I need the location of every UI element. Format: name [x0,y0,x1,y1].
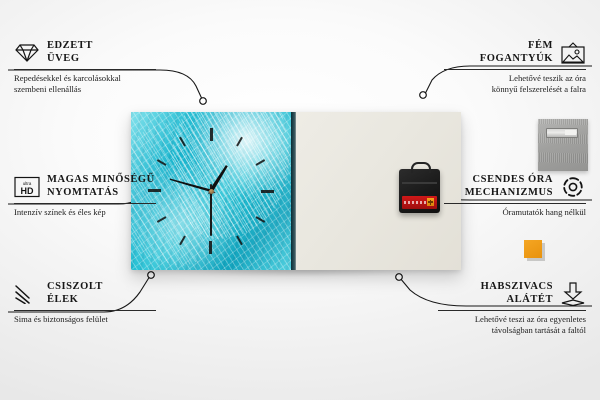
callout-title-line2: MECHANIZMUS [465,187,553,200]
gear-icon [560,175,586,199]
callout-rule [444,69,586,70]
callout-title-line1: MAGAS MINŐSÉGŰ [47,174,155,187]
callout-title-line2: ÜVEG [47,53,93,66]
callout-title-line2: FOGANTYÚK [480,53,553,66]
callout-title-line2: ÉLEK [47,294,103,307]
connector-dot-metal-handles [420,92,427,99]
infographic-canvas: EDZETT ÜVEG Repedésekkel és karcolásokka… [0,0,600,400]
callout-desc-line2: távolságban tartását a faltól [438,325,586,336]
callout-desc-line1: Lehetővé teszi az óra egyenletes [438,314,586,325]
quartz-mechanism [399,169,440,213]
foam-spacer-pad [524,240,542,258]
callout-rule [14,69,156,70]
callout-rule [14,203,156,204]
wall-hanger-icon [560,42,586,64]
callout-title-line1: FÉM [480,40,553,53]
connector-dot-tempered-glass [200,98,207,105]
callout-title-line1: CSENDES ÓRA [465,174,553,187]
callout-title-line1: HABSZIVACS [481,281,553,294]
metal-hanger-plate [538,119,588,171]
callout-title-line2: ALÁTÉT [481,294,553,307]
callout-desc-line1: Óramutatók hang nélkül [444,207,586,218]
callout-rule [14,310,156,311]
ultra-hd-icon: ultra HD [14,176,40,198]
clock-center-pivot [209,189,214,194]
callout-hd-print: ultra HD MAGAS MINŐSÉGŰ NYOMTATÁS Intenz… [14,174,156,218]
callout-rule [444,203,586,204]
mechanism-ridge [402,182,437,184]
callout-tempered-glass: EDZETT ÜVEG Repedésekkel és karcolásokka… [14,40,156,94]
callout-desc-line2: könnyű felszerelését a falra [444,84,586,95]
clock-back-panel [296,112,461,270]
battery-plus-terminal [427,198,434,206]
callout-silent-movement: CSENDES ÓRA MECHANIZMUS Óramutatók hang … [444,174,586,218]
callout-rule [438,310,586,311]
hanger-slot [546,128,578,138]
callout-metal-handles: FÉM FOGANTYÚK Lehetővé teszik az óra kön… [444,40,586,94]
callout-title-line2: NYOMTATÁS [47,187,155,200]
product-shadow [120,268,476,290]
callout-desc-line1: Repedésekkel és karcolásokkal [14,73,156,84]
svg-text:HD: HD [21,186,34,196]
callout-desc-line1: Lehetővé teszik az óra [444,73,586,84]
callout-polished-edges: CSISZOLT ÉLEK Sima és biztonságos felüle… [14,281,156,325]
diamond-icon [14,43,40,63]
polished-edges-icon [14,284,40,304]
callout-foam-pad: HABSZIVACS ALÁTÉT Lehetővé teszi az óra … [438,281,586,335]
callout-desc-line1: Intenzív színek és éles kép [14,207,156,218]
mechanism-hanging-loop [411,162,431,173]
foam-pad-arrow-icon [560,282,586,306]
callout-title-line1: CSISZOLT [47,281,103,294]
product-image [131,112,461,270]
callout-desc-line1: Sima és biztonságos felület [14,314,156,325]
callout-desc-line2: szembeni ellenállás [14,84,156,95]
battery [402,196,437,209]
callout-title-line1: EDZETT [47,40,93,53]
